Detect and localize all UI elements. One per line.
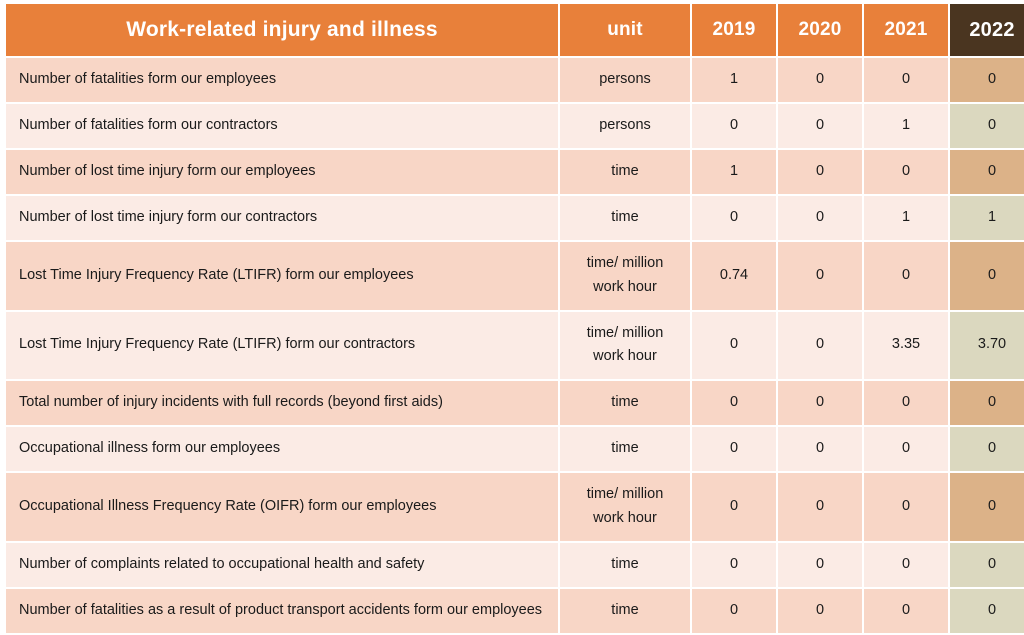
cell-metric-name: Occupational illness form our employees: [6, 427, 558, 471]
cell-value-2020: 0: [778, 312, 862, 380]
table-row: Total number of injury incidents with fu…: [6, 381, 1024, 425]
cell-metric-name: Total number of injury incidents with fu…: [6, 381, 558, 425]
cell-value-2020: 0: [778, 104, 862, 148]
cell-unit: persons: [560, 58, 690, 102]
cell-value-2022: 0: [950, 543, 1024, 587]
cell-value-2020: 0: [778, 242, 862, 310]
cell-value-2019: 0: [692, 104, 776, 148]
cell-value-2020: 0: [778, 150, 862, 194]
cell-metric-name: Occupational Illness Frequency Rate (OIF…: [6, 473, 558, 541]
unit-line: time: [560, 391, 690, 415]
cell-metric-name: Lost Time Injury Frequency Rate (LTIFR) …: [6, 242, 558, 310]
table-row: Lost Time Injury Frequency Rate (LTIFR) …: [6, 312, 1024, 380]
cell-value-2019: 0: [692, 543, 776, 587]
cell-value-2021: 0: [864, 150, 948, 194]
cell-metric-name: Number of fatalities form our contractor…: [6, 104, 558, 148]
cell-value-2022: 3.70: [950, 312, 1024, 380]
cell-unit: time: [560, 543, 690, 587]
cell-metric-name: Number of fatalities form our employees: [6, 58, 558, 102]
cell-unit: time/ millionwork hour: [560, 242, 690, 310]
table-header-row: Work-related injury and illness unit 201…: [6, 4, 1024, 56]
cell-value-2022: 0: [950, 473, 1024, 541]
cell-value-2022: 0: [950, 381, 1024, 425]
unit-line: time/ million: [560, 322, 690, 346]
cell-metric-name: Number of fatalities as a result of prod…: [6, 589, 558, 633]
unit-line: persons: [560, 114, 690, 138]
cell-value-2019: 0: [692, 381, 776, 425]
cell-value-2021: 0: [864, 381, 948, 425]
table-row: Occupational illness form our employeest…: [6, 427, 1024, 471]
unit-line: time: [560, 437, 690, 461]
cell-value-2021: 0: [864, 242, 948, 310]
column-header-year-2022: 2022: [950, 4, 1024, 56]
cell-value-2020: 0: [778, 381, 862, 425]
work-related-injury-table-container: Work-related injury and illness unit 201…: [0, 0, 1024, 612]
cell-value-2020: 0: [778, 427, 862, 471]
table-row: Number of complaints related to occupati…: [6, 543, 1024, 587]
cell-value-2019: 0: [692, 312, 776, 380]
column-header-year-2019: 2019: [692, 4, 776, 56]
table-row: Number of fatalities form our contractor…: [6, 104, 1024, 148]
cell-value-2020: 0: [778, 58, 862, 102]
cell-unit: time: [560, 196, 690, 240]
cell-value-2021: 3.35: [864, 312, 948, 380]
table-row: Lost Time Injury Frequency Rate (LTIFR) …: [6, 242, 1024, 310]
cell-value-2019: 0.74: [692, 242, 776, 310]
table-header: Work-related injury and illness unit 201…: [6, 4, 1024, 56]
cell-value-2022: 1: [950, 196, 1024, 240]
cell-value-2022: 0: [950, 104, 1024, 148]
unit-line: time: [560, 553, 690, 577]
unit-line: persons: [560, 68, 690, 92]
cell-unit: time: [560, 427, 690, 471]
cell-value-2019: 0: [692, 473, 776, 541]
cell-value-2021: 0: [864, 427, 948, 471]
cell-value-2019: 0: [692, 589, 776, 633]
cell-unit: time: [560, 381, 690, 425]
cell-value-2020: 0: [778, 473, 862, 541]
unit-line: time: [560, 160, 690, 184]
cell-unit: time: [560, 589, 690, 633]
cell-value-2021: 0: [864, 473, 948, 541]
cell-value-2019: 1: [692, 150, 776, 194]
cell-value-2019: 1: [692, 58, 776, 102]
cell-value-2022: 0: [950, 150, 1024, 194]
cell-value-2020: 0: [778, 589, 862, 633]
table-row: Occupational Illness Frequency Rate (OIF…: [6, 473, 1024, 541]
column-header-year-2021: 2021: [864, 4, 948, 56]
cell-metric-name: Number of lost time injury form our cont…: [6, 196, 558, 240]
cell-unit: persons: [560, 104, 690, 148]
cell-unit: time/ millionwork hour: [560, 312, 690, 380]
work-related-injury-and-illness-table: Work-related injury and illness unit 201…: [4, 2, 1024, 635]
cell-value-2021: 0: [864, 589, 948, 633]
cell-value-2022: 0: [950, 589, 1024, 633]
unit-line: work hour: [560, 345, 690, 369]
unit-line: time: [560, 599, 690, 623]
table-row: Number of lost time injury form our empl…: [6, 150, 1024, 194]
cell-value-2019: 0: [692, 196, 776, 240]
column-header-year-2020: 2020: [778, 4, 862, 56]
unit-line: work hour: [560, 276, 690, 300]
cell-value-2022: 0: [950, 427, 1024, 471]
cell-value-2021: 1: [864, 104, 948, 148]
table-body: Number of fatalities form our employeesp…: [6, 58, 1024, 633]
cell-value-2019: 0: [692, 427, 776, 471]
unit-line: work hour: [560, 507, 690, 531]
cell-value-2022: 0: [950, 242, 1024, 310]
table-row: Number of fatalities form our employeesp…: [6, 58, 1024, 102]
cell-metric-name: Number of complaints related to occupati…: [6, 543, 558, 587]
cell-metric-name: Lost Time Injury Frequency Rate (LTIFR) …: [6, 312, 558, 380]
cell-metric-name: Number of lost time injury form our empl…: [6, 150, 558, 194]
cell-value-2020: 0: [778, 543, 862, 587]
cell-value-2022: 0: [950, 58, 1024, 102]
table-row: Number of lost time injury form our cont…: [6, 196, 1024, 240]
unit-line: time/ million: [560, 483, 690, 507]
cell-unit: time/ millionwork hour: [560, 473, 690, 541]
unit-line: time/ million: [560, 252, 690, 276]
column-header-metric-name: Work-related injury and illness: [6, 4, 558, 56]
cell-value-2020: 0: [778, 196, 862, 240]
cell-unit: time: [560, 150, 690, 194]
column-header-unit: unit: [560, 4, 690, 56]
cell-value-2021: 0: [864, 543, 948, 587]
cell-value-2021: 1: [864, 196, 948, 240]
cell-value-2021: 0: [864, 58, 948, 102]
unit-line: time: [560, 206, 690, 230]
table-row: Number of fatalities as a result of prod…: [6, 589, 1024, 633]
